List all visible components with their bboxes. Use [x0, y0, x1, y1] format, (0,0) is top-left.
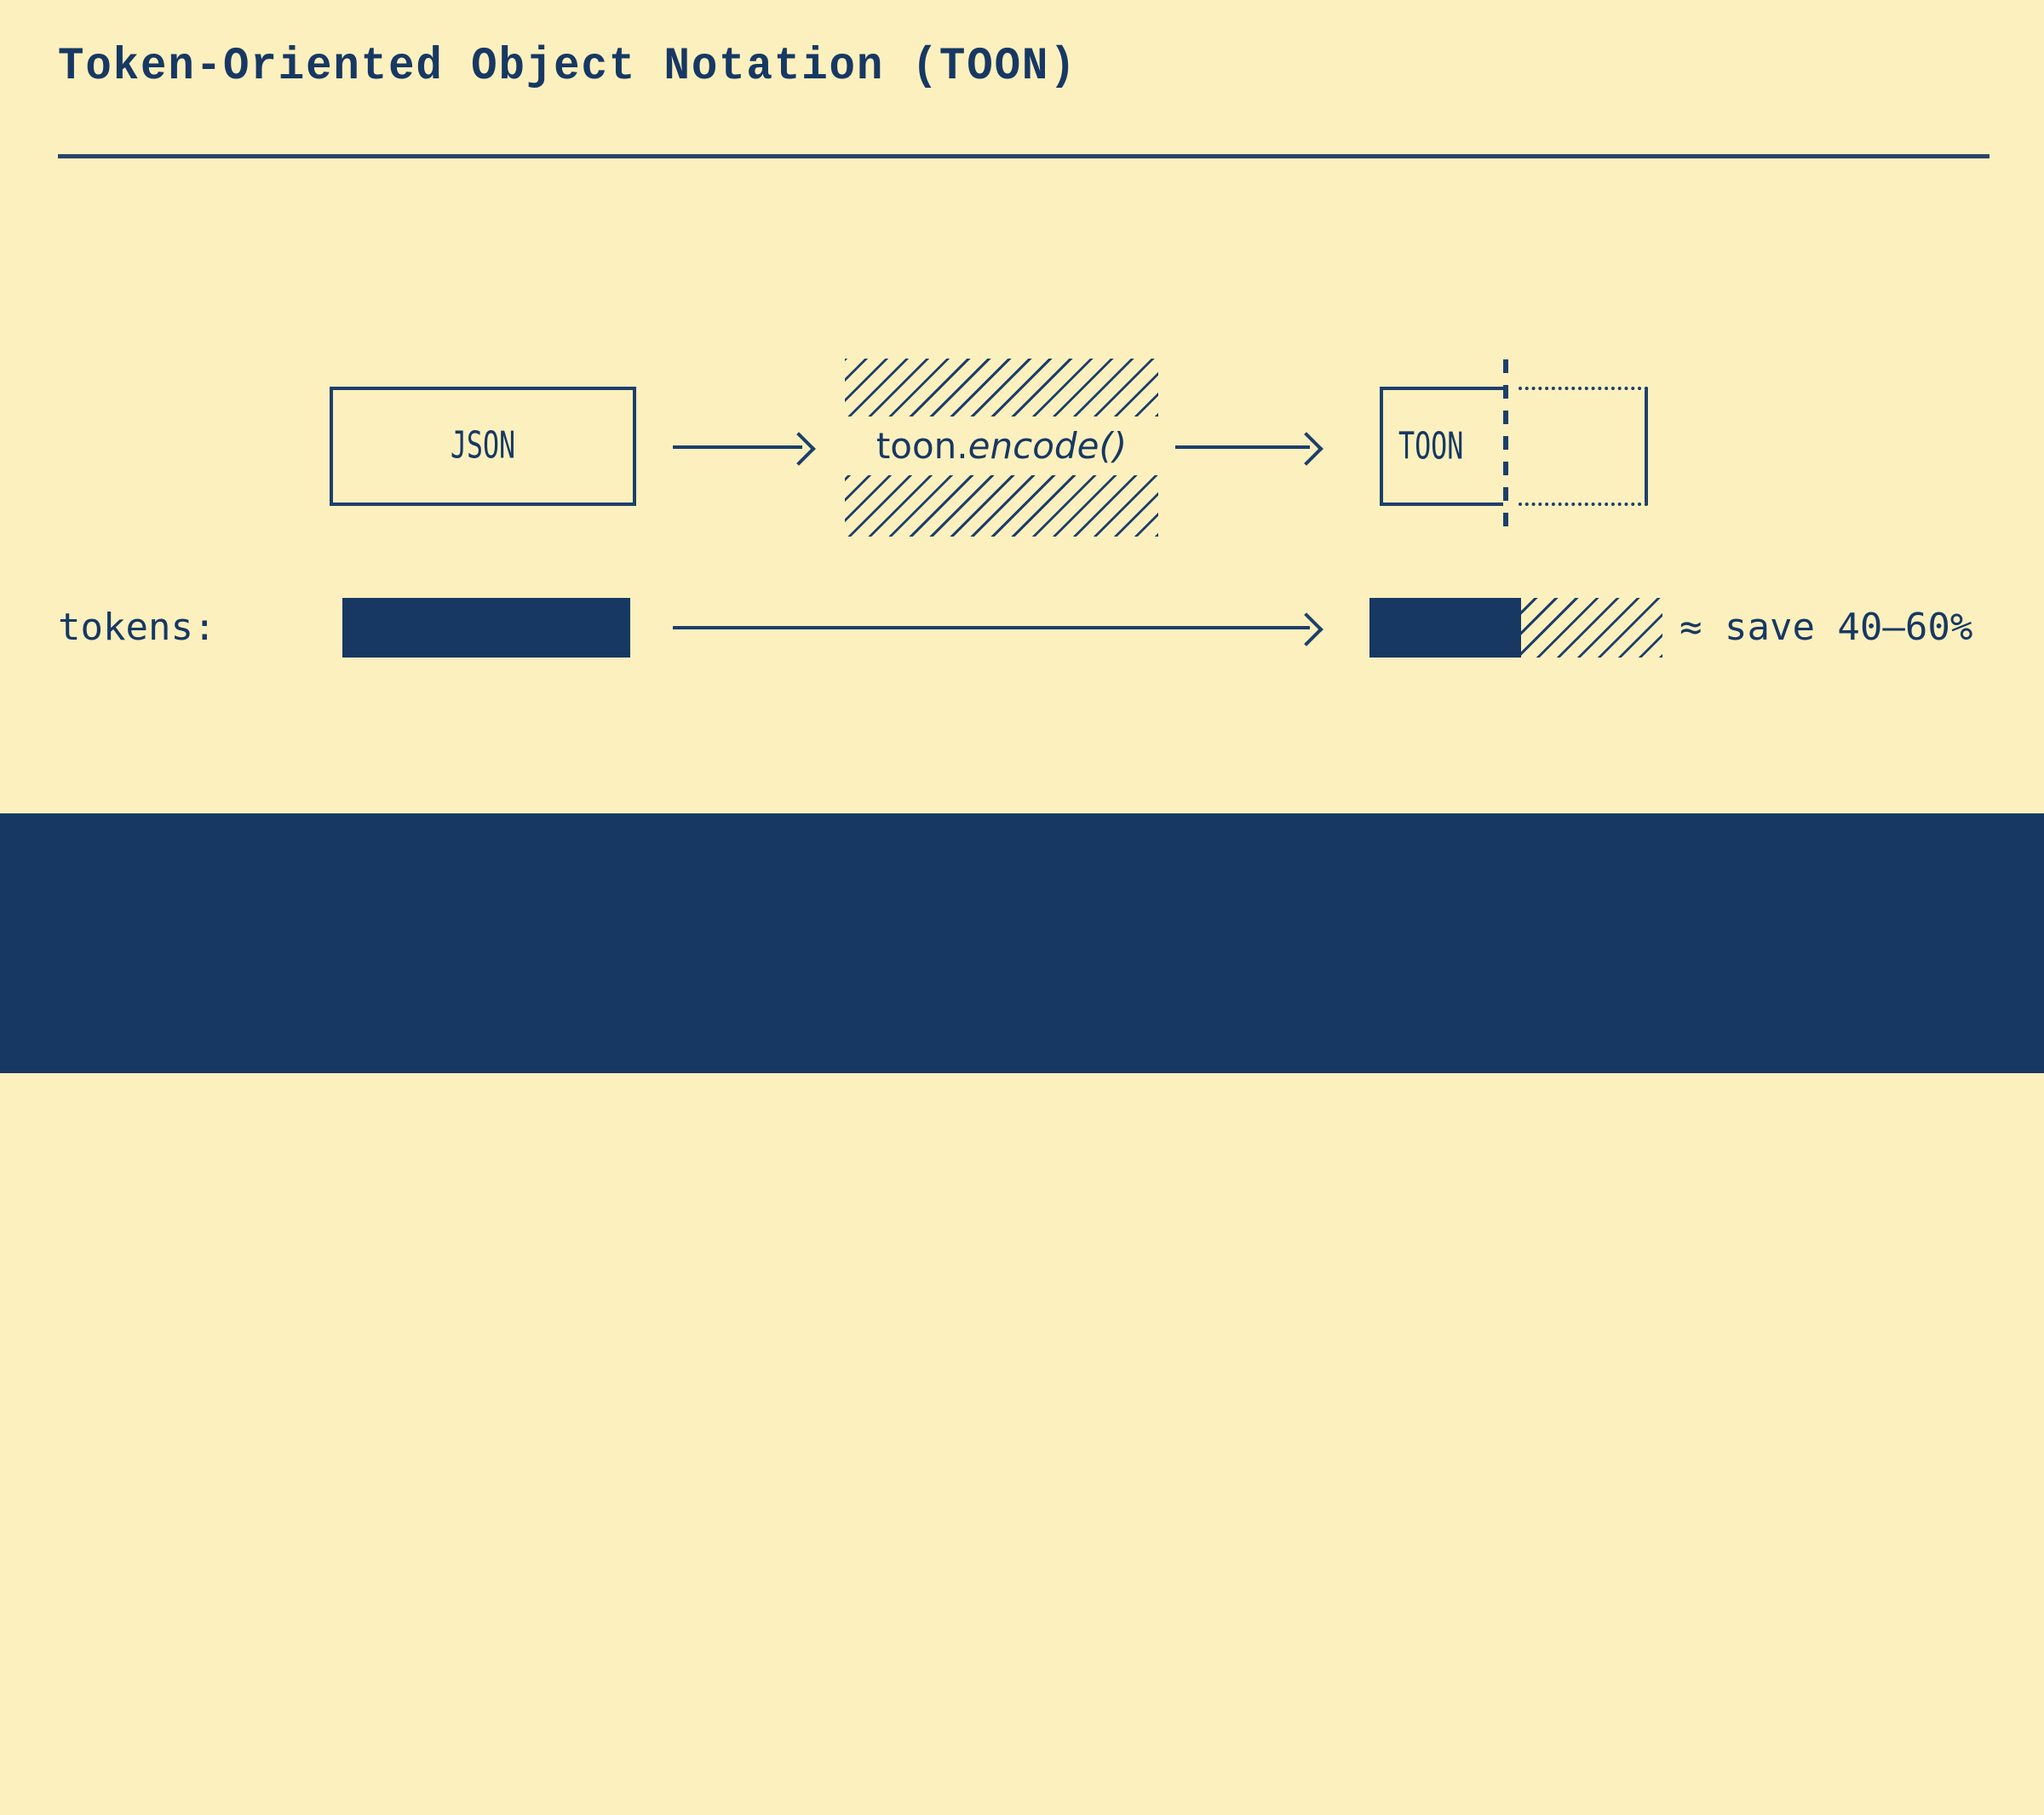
hatch-pattern-top: [845, 359, 1158, 416]
sample-row-json-code: { "tags": ["jazz", "chill", "lofi"] }: [455, 1699, 1324, 1743]
encode-transform-block: toon.encode(): [845, 359, 1158, 537]
sample-row-toon-kind: TOON: [322, 1771, 416, 1815]
arrow-head: [782, 432, 816, 466]
hatch-pattern-bottom: [845, 475, 1158, 537]
arrow-tokens-comparison-icon: [673, 611, 1329, 645]
toon-target-box-label: TOON: [1398, 425, 1489, 468]
header-divider-rule: [58, 154, 1989, 158]
toon-box-solid-part: TOON: [1380, 387, 1503, 506]
tokens-row-label: tokens:: [58, 598, 215, 658]
sample-row-toon-code: tags[3]: jazz,chill,lofi: [455, 1771, 1019, 1815]
token-savings-label: ≈ save 40–60%: [1679, 598, 1972, 658]
token-bar-toon: [1369, 598, 1662, 658]
arrow-shaft: [673, 626, 1310, 629]
arrow-json-to-encode-icon: [673, 430, 818, 464]
token-bar-json: [342, 598, 630, 658]
json-source-box-label: JSON: [333, 425, 633, 468]
sample-row-json-arrow-icon: →: [416, 1699, 455, 1743]
sample-panel: sample: JSON→{ "tags": ["jazz", "chill",…: [0, 813, 2044, 1073]
encode-namespace-text: toon.: [876, 425, 968, 467]
arrow-head: [1289, 432, 1323, 466]
encode-function-label: toon.encode(): [845, 416, 1158, 475]
arrow-encode-to-toon-icon: [1175, 430, 1327, 464]
arrow-head: [1289, 612, 1323, 646]
sample-row-toon-arrow-icon: →: [416, 1771, 455, 1815]
toon-target-box: TOON: [1380, 387, 1648, 506]
token-bar-toon-used: [1369, 598, 1521, 658]
toon-box-dotted-part: [1519, 387, 1648, 506]
sample-row-json: JSON→{ "tags": ["jazz", "chill", "lofi"]…: [322, 1699, 1324, 1743]
json-source-box: JSON: [330, 387, 636, 506]
toon-box-dashed-divider: [1503, 359, 1508, 533]
encode-method-text: encode(): [968, 425, 1128, 467]
sample-panel-title: sample:: [58, 1699, 222, 1743]
sample-row-json-kind: JSON: [322, 1699, 416, 1743]
page-title: Token-Oriented Object Notation (TOON): [58, 41, 1077, 93]
sample-row-toon: TOON→tags[3]: jazz,chill,lofi: [322, 1771, 1019, 1815]
token-bar-toon-saved: [1521, 598, 1662, 658]
